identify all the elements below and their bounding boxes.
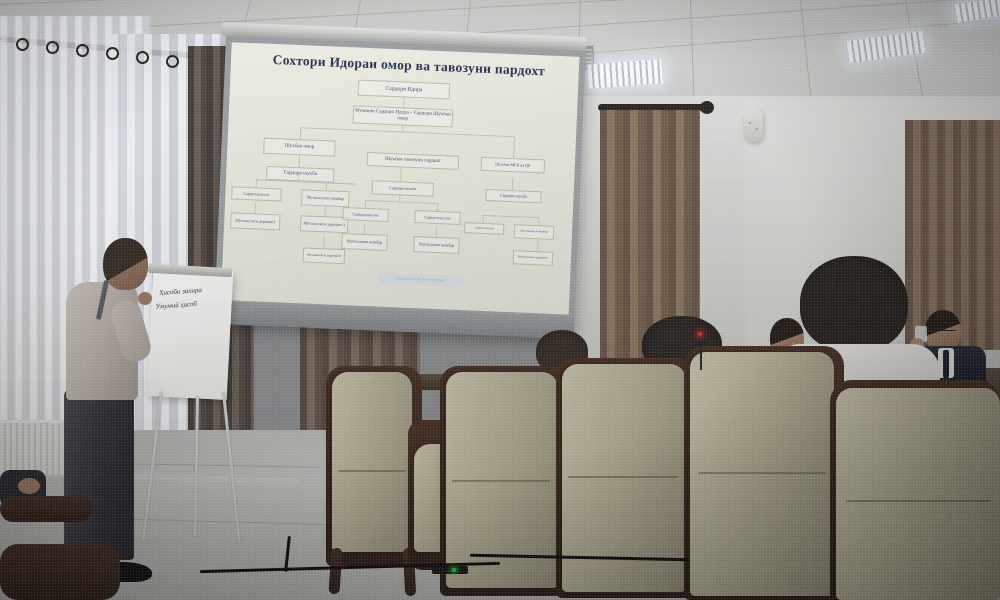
ceiling-light-panel-1: [587, 59, 662, 88]
floor-power-strip: [432, 566, 468, 574]
org-box-deputy: Муовини Сардори Идора – Сардори Шуъбаи о…: [352, 105, 453, 127]
attendee-front-right-head: [800, 256, 908, 352]
flipchart-handwriting-line-2: Умумий ҳисоб: [155, 300, 197, 311]
chair-far-left-frame-2: [0, 544, 120, 600]
chair-far-left-frame: [0, 496, 92, 522]
org-box-left-grade2b: Мутахассиси дараҷаи II: [303, 247, 346, 264]
presenter-hand: [138, 292, 152, 305]
org-box-chief-right: Сардори шуъба: [485, 189, 541, 203]
wall-speaker: [744, 108, 763, 142]
org-box-dept-right: Шуъбаи МСБ ва ЦБ: [481, 157, 546, 174]
microphone-led: [698, 332, 702, 336]
projection-screen: Сохтори Идораи омор ва тавозуни пардохт: [214, 36, 586, 339]
org-box-mid-senior-b: Сармутахассис: [414, 210, 461, 225]
curtain-ring: [166, 55, 179, 68]
org-box-left-grade2: Мутахассиси дараҷаи II: [300, 215, 349, 233]
curtain-ring: [76, 44, 89, 57]
org-box-left-lead: Мутахассиси пешбар: [301, 189, 350, 207]
chair-3: [690, 352, 834, 596]
org-box-right-senior: Сармутахассис: [464, 222, 504, 235]
org-box-mid-senior-a: Сармутахассис: [342, 207, 389, 222]
curtain-ring: [136, 51, 149, 64]
org-box-head: Сардори Идора: [358, 80, 451, 100]
curtain-ring: [16, 38, 29, 51]
org-box-left-grade1: Мутахассиси дараҷаи I: [230, 212, 281, 230]
slide-canvas: Сохтори Идораи омор ва тавозуни пардохт: [221, 42, 579, 314]
power-strip-led: [452, 568, 456, 572]
desk-microphone: [700, 336, 702, 370]
org-box-mid-econ-a: Иқтисодчии пешбар: [341, 233, 388, 251]
attendee-at-table-right-tie: [943, 350, 949, 378]
presenter-head: [103, 238, 148, 290]
flipchart-handwriting-line-1: Ҳисоби захира: [159, 286, 202, 297]
org-box-right-lead: Мутахассиси пешбар: [514, 224, 555, 240]
conference-room-photo: Сохтори Идораи омор ва тавозуни пардохт: [0, 0, 1000, 600]
org-box-dept-mid: Шуъбаи тавозуни пардохт: [367, 152, 460, 170]
slide-datetime-placeholder: PLEASE SET THE DATA AND TIME: [378, 273, 464, 288]
org-box-dept-left: Шуъбаи омор: [263, 138, 336, 157]
org-box-chief-left: Сардори шуъба: [266, 166, 335, 183]
chair-4: [836, 388, 1000, 600]
org-box-mid-econ-b: Иқтисодчии пешбар: [413, 236, 460, 254]
flipchart-paper: Ҳисоби захира Умумий ҳисоб: [147, 268, 234, 400]
wall-radiator: [0, 420, 70, 475]
curtain-ring: [106, 47, 119, 60]
attendee-far-left-hand: [18, 478, 40, 494]
curtain-rod-finial: [700, 101, 714, 114]
slide-title: Сохтори Идораи омор ва тавозуни пардохт: [259, 51, 559, 80]
org-box-left-senior: Сармутахассис: [231, 186, 282, 201]
org-box-chief-mid: Сардори шуъба: [372, 180, 435, 197]
presenter-trousers: [64, 388, 134, 560]
org-box-right-grade1: Мутахассиси дараҷаи I: [513, 250, 554, 266]
curtain-ring: [46, 41, 59, 54]
attendee-at-table-right-glasses: [928, 330, 956, 336]
chair-empty: [332, 372, 412, 552]
